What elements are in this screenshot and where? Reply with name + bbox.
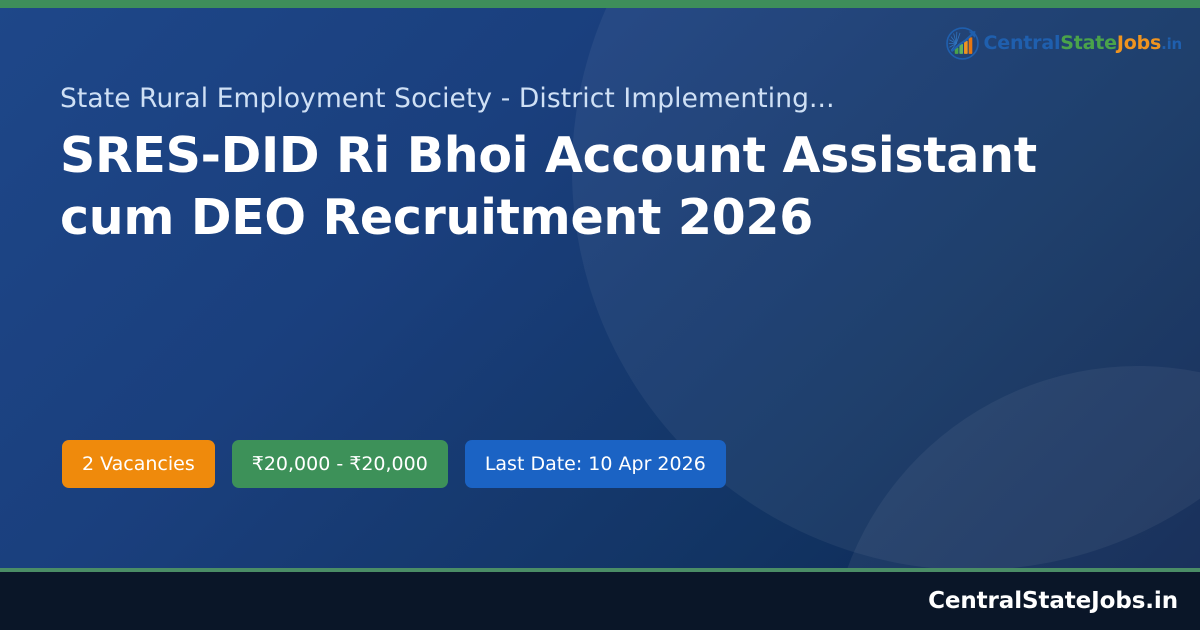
chart-arrow-circle-icon <box>946 27 979 60</box>
site-logo[interactable]: CentralStateJobs.in <box>946 27 1182 60</box>
logo-text-state: State <box>1060 32 1117 54</box>
organization-name: State Rural Employment Society - Distric… <box>60 82 1060 115</box>
logo-text-tld: .in <box>1161 35 1182 53</box>
status-badge-vacancies: 2 Vacancies <box>62 440 215 488</box>
logo-wordmark: CentralStateJobs.in <box>984 34 1182 53</box>
footer-brand-name: CentralStateJobs.in <box>928 588 1200 614</box>
status-badge-last-date: Last Date: 10 Apr 2026 <box>465 440 726 488</box>
footer-bar: CentralStateJobs.in <box>0 572 1200 630</box>
job-banner-card: CentralStateJobs.in State Rural Employme… <box>0 0 1200 630</box>
badge-group: 2 Vacancies ₹20,000 - ₹20,000 Last Date:… <box>62 440 726 488</box>
logo-text-jobs: Jobs <box>1117 32 1161 54</box>
page-title: SRES-DID Ri Bhoi Account Assistant cum D… <box>60 125 1060 248</box>
logo-text-central: Central <box>984 32 1061 54</box>
status-badge-salary: ₹20,000 - ₹20,000 <box>232 440 448 488</box>
top-accent-bar <box>0 0 1200 8</box>
banner-content: State Rural Employment Society - Distric… <box>60 82 1060 249</box>
